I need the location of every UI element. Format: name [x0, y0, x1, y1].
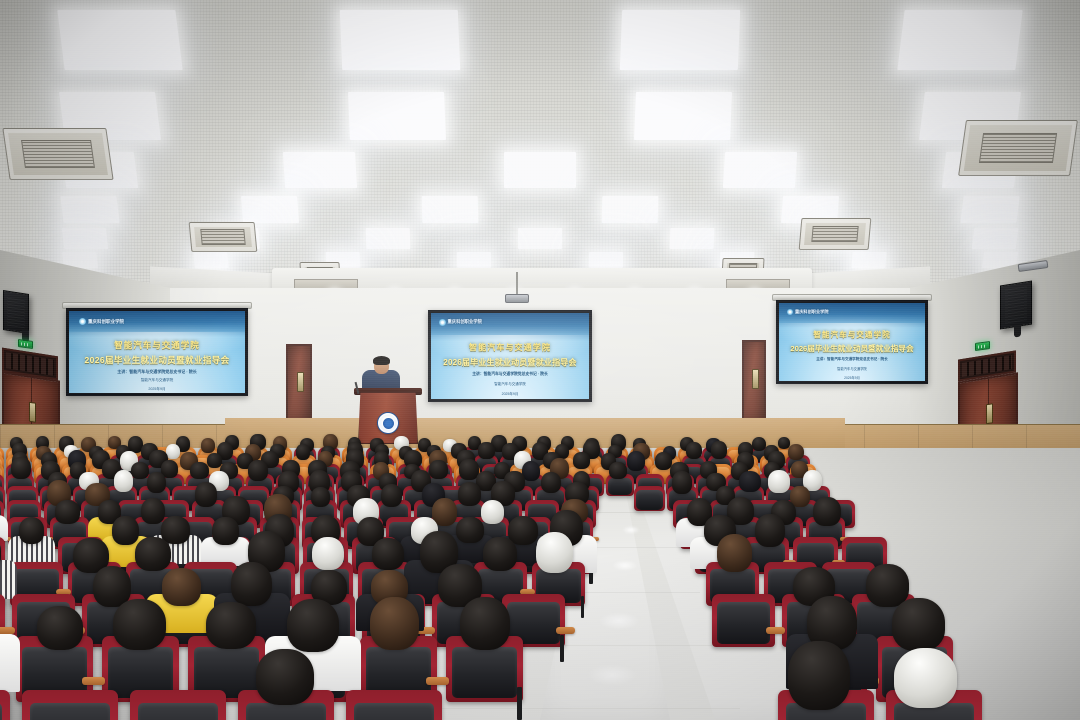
ceiling-light — [366, 228, 411, 249]
audience-member-head — [37, 606, 82, 650]
audience-member-head — [19, 517, 45, 544]
ceiling-light — [194, 252, 229, 268]
ceiling-light — [634, 92, 732, 140]
auditorium-photo: 重庆科创职业学院 智能汽车与交通学院 2026届毕业生就业动员暨就业指导会 主讲… — [0, 0, 1080, 720]
audience-member-head — [113, 599, 166, 650]
audience-member-head — [135, 537, 171, 571]
audience-member-head — [206, 602, 256, 649]
audience-member-torso — [0, 634, 20, 692]
crest-inner — [383, 418, 394, 429]
floor-tile-line — [404, 708, 740, 709]
audience-member-head — [788, 641, 850, 710]
crest-icon — [787, 309, 793, 315]
audience-member-head — [112, 516, 139, 546]
seat-cushion — [636, 490, 662, 510]
university-crest-icon — [377, 412, 399, 434]
seat-cushion — [717, 602, 770, 643]
seat-cushion — [452, 647, 517, 698]
slide-note-right: 主讲：智能汽车与交通学院党总支书记 · 院长 — [779, 357, 925, 362]
slide-note-center: 主讲：智能汽车与交通学院党总支书记 · 院长 — [431, 372, 589, 377]
audience-member-head — [166, 444, 180, 459]
audience-member-head — [573, 452, 590, 469]
seat-leg — [560, 635, 564, 662]
audience-member-head — [195, 482, 217, 506]
auditorium-seat — [22, 690, 118, 720]
audience-member-torso — [0, 560, 17, 599]
ceiling-light — [620, 10, 740, 70]
seat-cushion — [30, 703, 111, 720]
seat-cushion — [0, 703, 2, 720]
screen-center: 重庆科创职业学院 智能汽车与交通学院 2026届毕业生就业动员暨就业指导会 主讲… — [428, 310, 592, 402]
audience-member-head — [541, 472, 562, 493]
ceiling-light — [851, 252, 886, 268]
seat-armrest — [0, 627, 15, 634]
slide-center: 重庆科创职业学院 智能汽车与交通学院 2026届毕业生就业动员暨就业指导会 主讲… — [431, 313, 589, 399]
slide-logo-left: 重庆科创职业学院 — [79, 318, 124, 325]
audience-member-head — [212, 517, 239, 545]
slide-logo-text: 重庆科创职业学院 — [448, 319, 482, 325]
audience-member-head — [739, 471, 761, 492]
ceiling-ac-vent-icon — [958, 120, 1078, 176]
audience-member-head — [894, 648, 958, 708]
audience-member-head — [201, 438, 215, 453]
wall-speaker-right — [1000, 280, 1032, 329]
ceiling-ac-vent-icon — [799, 218, 872, 250]
ceiling-light — [60, 196, 119, 223]
audience-member-head — [609, 462, 627, 479]
seat-armrest — [82, 677, 105, 686]
speaker-bracket-right — [1014, 324, 1021, 337]
audience-member-head — [711, 441, 727, 458]
audience-member-head — [312, 537, 344, 570]
ceiling-light — [897, 10, 1022, 70]
slide-subtitle-right: 2026届毕业生就业动员暨就业指导会 — [779, 343, 925, 354]
audience-member-head — [381, 484, 402, 507]
seat-cushion — [608, 478, 632, 495]
audience-member-head — [768, 470, 790, 492]
slide-right: 重庆科创职业学院 智能汽车与交通学院 2026届毕业生就业动员暨就业指导会 主讲… — [779, 303, 925, 381]
wall-speaker-left — [3, 290, 29, 334]
auditorium-seat — [346, 690, 442, 720]
audience-member-head — [190, 462, 208, 479]
ceiling-light — [348, 92, 446, 140]
audience-member-head — [248, 460, 268, 481]
floor-light-reflection — [586, 664, 638, 686]
slide-note-left: 主讲：智能汽车与交通学院党总支书记 · 院长 — [69, 369, 245, 375]
projector-mount-rod — [516, 272, 518, 296]
audience-member-head — [256, 649, 313, 705]
ceiling-light — [241, 196, 299, 223]
audience-member-head — [11, 457, 31, 479]
ceiling-light — [518, 228, 562, 249]
ceiling-ac-vent-icon — [189, 222, 258, 252]
auditorium-seat — [634, 486, 665, 511]
slide-logo-center: 重庆科创职业学院 — [439, 319, 482, 326]
audience-member-head — [483, 537, 517, 571]
auditorium-seat — [130, 690, 226, 720]
audience-member-head — [311, 487, 330, 507]
slide-date-left: 2025年9月 — [69, 387, 245, 392]
seat-armrest — [426, 677, 449, 686]
slide-date-right: 2025年9月 — [779, 375, 925, 380]
ceiling-ac-vent-icon — [2, 128, 113, 180]
seat-armrest — [766, 627, 785, 634]
seat-cushion — [246, 703, 327, 720]
slide-title-center: 智能汽车与交通学院 — [431, 342, 589, 353]
audience-member-head — [161, 516, 190, 543]
audience-member-head — [456, 517, 483, 543]
screen-right: 重庆科创职业学院 智能汽车与交通学院 2026届毕业生就业动员暨就业指导会 主讲… — [776, 300, 928, 384]
ceiling-light — [283, 152, 357, 188]
ceiling-light — [589, 252, 623, 268]
seat-armrest — [556, 627, 575, 634]
auditorium-seat — [0, 690, 10, 720]
audience-member-head — [478, 442, 495, 459]
audience-member-head — [755, 514, 786, 547]
door-stage-left[interactable] — [286, 344, 312, 424]
slide-title-right: 智能汽车与交通学院 — [779, 329, 925, 340]
audience-member-head — [147, 472, 166, 493]
audience-member-head — [55, 500, 80, 524]
slide-left: 重庆科创职业学院 智能汽车与交通学院 2026届毕业生就业动员暨就业指导会 主讲… — [69, 311, 245, 393]
floor-light-reflection — [598, 612, 640, 630]
audience-member-head — [813, 497, 841, 526]
audience-member-head — [866, 564, 909, 606]
ceiling-light — [422, 196, 479, 223]
audience-member-head — [536, 532, 573, 573]
seat-leg — [517, 687, 522, 720]
ceiling — [0, 0, 1080, 300]
auditorium-seat — [712, 594, 775, 647]
slide-title-left: 智能汽车与交通学院 — [69, 339, 245, 351]
crest-icon — [79, 318, 86, 325]
audience-member-head — [717, 534, 752, 572]
screen-left: 重庆科创职业学院 智能汽车与交通学院 2026届毕业生就业动员暨就业指导会 主讲… — [66, 308, 248, 396]
audience-member-head — [231, 562, 272, 607]
floor-light-reflection — [622, 526, 640, 534]
seat-leg — [581, 596, 585, 618]
audience-member-head — [114, 470, 134, 491]
slide-date-center: 2025年9月 — [431, 392, 589, 397]
audience-member-head — [481, 500, 505, 524]
seat-cushion — [138, 703, 219, 720]
ceiling-light — [723, 152, 797, 188]
audience-member-head — [686, 442, 702, 459]
door-stage-right[interactable] — [742, 340, 766, 424]
audience-member-head — [892, 598, 945, 651]
audience-member-head — [296, 444, 310, 459]
audience-member-head — [141, 498, 165, 524]
audience-member-head — [372, 538, 404, 570]
presenter-hair — [373, 356, 390, 365]
audience-member-head — [458, 482, 481, 506]
slide-logo-text: 重庆科创职业学院 — [795, 309, 829, 315]
audience-member-head — [131, 462, 149, 480]
slide-logo-right: 重庆科创职业学院 — [787, 309, 829, 315]
audience-member-head — [627, 451, 646, 470]
floor-light-reflection — [612, 560, 638, 571]
slide-subtitle-left: 2026届毕业生就业动员暨就业指导会 — [69, 354, 245, 366]
ceiling-light — [340, 10, 460, 70]
slide-logo-text: 重庆科创职业学院 — [88, 319, 124, 325]
slide-subtitle-center: 2026届毕业生就业动员暨就业指导会 — [431, 357, 589, 368]
audience-member-head — [429, 460, 448, 479]
audience-member-head — [672, 471, 692, 494]
slide-org-right: 智能汽车与交通学院 — [779, 366, 925, 371]
audience-member-head — [287, 599, 339, 652]
ceiling-light — [972, 228, 1019, 249]
audience-member-head — [788, 444, 805, 460]
audience-member-head — [370, 597, 419, 650]
ceiling-light — [62, 228, 109, 249]
audience-member-head — [162, 568, 201, 605]
ceiling-light — [669, 228, 714, 249]
ceiling-light — [602, 196, 659, 223]
projector-icon — [505, 294, 529, 303]
ceiling-light — [960, 196, 1019, 223]
seat-cushion — [354, 703, 435, 720]
crest-icon — [439, 319, 446, 326]
slide-org-center: 智能汽车与交通学院 — [431, 382, 589, 387]
ceiling-light — [504, 152, 576, 188]
ceiling-light — [57, 10, 182, 70]
audience-member-head — [460, 597, 511, 650]
ceiling-light — [457, 252, 491, 268]
slide-org-left: 智能汽车与交通学院 — [69, 378, 245, 383]
